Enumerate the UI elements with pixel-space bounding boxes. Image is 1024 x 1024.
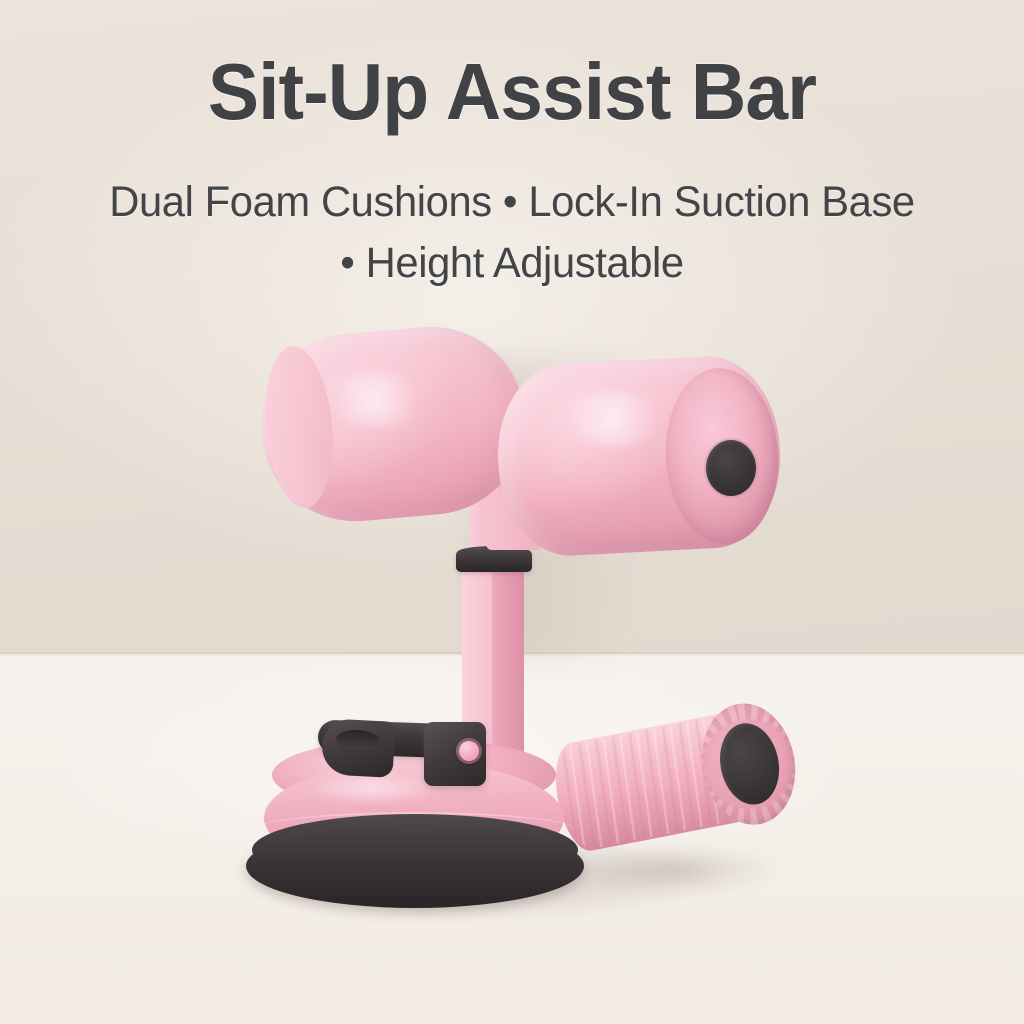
cushion-end-cap: [706, 440, 756, 496]
left-cushion-specular: [320, 372, 430, 428]
sit-up-assist-bar: [0, 0, 1024, 1024]
right-cushion-specular: [552, 392, 672, 446]
suction-base-seam: [256, 812, 574, 846]
post-collar-ring: [456, 550, 532, 572]
product-hero-image: Sit-Up Assist Bar Dual Foam Cushions • L…: [0, 0, 1024, 1024]
suction-release-button: [456, 738, 482, 764]
